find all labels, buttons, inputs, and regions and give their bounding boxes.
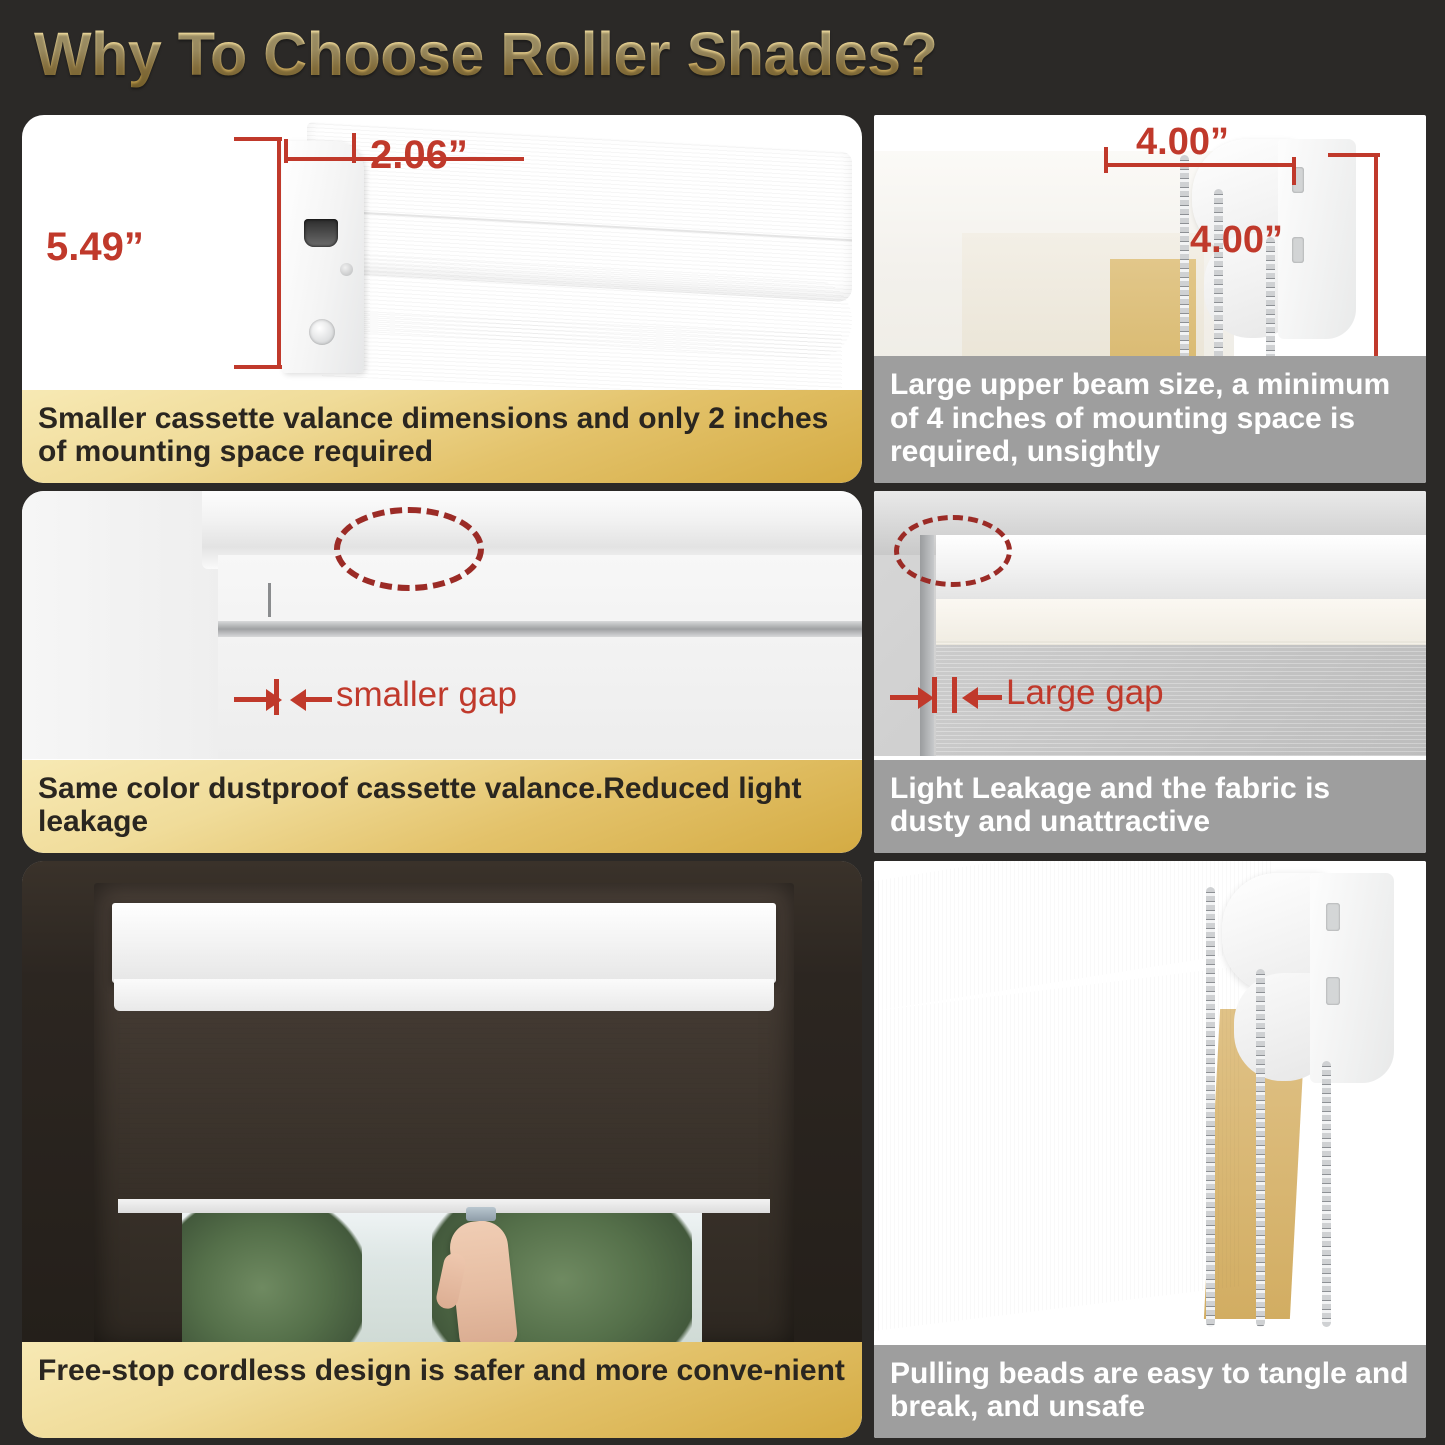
panel-4-caption: Light Leakage and the fabric is dusty an… (874, 760, 1426, 853)
panel-light-leakage[interactable]: Large gap Light Leakage and the fabric i… (874, 491, 1426, 853)
panel-dustproof-valance[interactable]: smaller gap Same color dustproof cassett… (22, 491, 862, 853)
bead-chain-left (1206, 887, 1215, 1327)
page-title: Why To Choose Roller Shades? (34, 19, 937, 89)
gap-arrow-right-head-icon (290, 689, 306, 711)
panel-large-beam[interactable]: 4.00” 4.00” Large upper beam size, a min… (874, 115, 1426, 483)
gap-arrow-right-head-icon (962, 687, 978, 709)
panel-pulling-beads[interactable]: Pulling beads are easy to tangle and bre… (874, 861, 1426, 1438)
width-dim-tick-left (284, 139, 288, 163)
panel-cordless-design[interactable]: Free-stop cordless design is safer and m… (22, 861, 862, 1438)
panel-smaller-cassette[interactable]: 2.06” 5.49” Smaller cassette valance dim… (22, 115, 862, 483)
mounting-bracket (282, 141, 364, 373)
shade-fabric (118, 1009, 770, 1209)
beam-mounting-plate (1278, 139, 1356, 339)
bead-chain-right (1322, 1061, 1331, 1327)
cassette-valance (112, 903, 776, 983)
gap-arrow-right-shaft (306, 697, 332, 702)
width-dim-tick-right (1292, 157, 1296, 185)
bracket-small-screw-icon (340, 263, 353, 276)
gap-edge-line (268, 583, 271, 617)
height-dim-tick-top (234, 137, 282, 141)
tree-left (182, 1213, 362, 1348)
large-beam-illustration: 4.00” 4.00” (874, 115, 1426, 385)
highlight-ellipse-icon (334, 507, 484, 591)
plate-nub-bottom-icon (1326, 977, 1340, 1005)
shade-grip-handle (466, 1207, 496, 1221)
gap-arrow-left-shaft (234, 697, 270, 702)
width-dimension-label: 4.00” (1136, 121, 1229, 164)
smaller-gap-label: smaller gap (336, 675, 517, 715)
gap-marker-line-a (932, 677, 937, 713)
panel-3-caption: Same color dustproof cassette valance.Re… (22, 760, 862, 853)
gap-marker-line (274, 679, 279, 715)
shade-rail (218, 621, 862, 637)
panel-1-caption: Smaller cassette valance dimensions and … (22, 390, 862, 483)
height-dimension-label: 5.49” (46, 225, 144, 270)
panel-5-caption: Free-stop cordless design is safer and m… (22, 1342, 862, 1438)
gap-arrow-left-shaft (890, 695, 920, 700)
window-wall-left (22, 491, 227, 759)
plate-nub-bottom-icon (1292, 237, 1304, 263)
height-dim-tick-bottom (234, 365, 282, 369)
gap-arrow-right-shaft (978, 695, 1002, 700)
width-dim-tick-left (1104, 147, 1108, 173)
bead-chain-mid (1256, 969, 1265, 1327)
height-dim-line (277, 139, 281, 369)
width-dimension-label: 2.06” (370, 133, 468, 178)
cassette-valance-illustration: 2.06” 5.49” (22, 115, 862, 385)
bead-chain-illustration (874, 861, 1426, 1348)
header-bar: Why To Choose Roller Shades? (0, 0, 1445, 108)
light-leakage-illustration: Large gap (874, 491, 1426, 756)
panel-2-caption: Large upper beam size, a minimum of 4 in… (874, 356, 1426, 483)
gap-marker-line-b (952, 677, 957, 713)
height-dim-tick-top (1328, 153, 1380, 157)
panel-6-caption: Pulling beads are easy to tangle and bre… (874, 1345, 1426, 1438)
valance-lower-band (114, 979, 774, 1011)
large-gap-label: Large gap (1006, 673, 1164, 713)
bead-chain-left (1180, 155, 1189, 385)
highlight-ellipse-icon (894, 515, 1012, 587)
plate-nub-top-icon (1326, 903, 1340, 931)
bracket-slot-icon (304, 219, 338, 247)
white-fabric-band (936, 599, 1426, 645)
comparison-grid: 2.06” 5.49” Smaller cassette valance dim… (0, 108, 1445, 1445)
width-dim-tick-right (352, 133, 356, 163)
beige-shade-fabric (874, 966, 1242, 1331)
bracket-screw-icon (309, 319, 335, 345)
roller-shade-fabric (218, 555, 862, 759)
window-scene-illustration (22, 861, 862, 1348)
height-dim-line (1374, 155, 1378, 371)
shade-hem-bar (118, 1199, 770, 1213)
dustproof-valance-illustration: smaller gap (22, 491, 862, 759)
height-dimension-label: 4.00” (1190, 219, 1283, 262)
mounting-plate (1310, 873, 1394, 1083)
